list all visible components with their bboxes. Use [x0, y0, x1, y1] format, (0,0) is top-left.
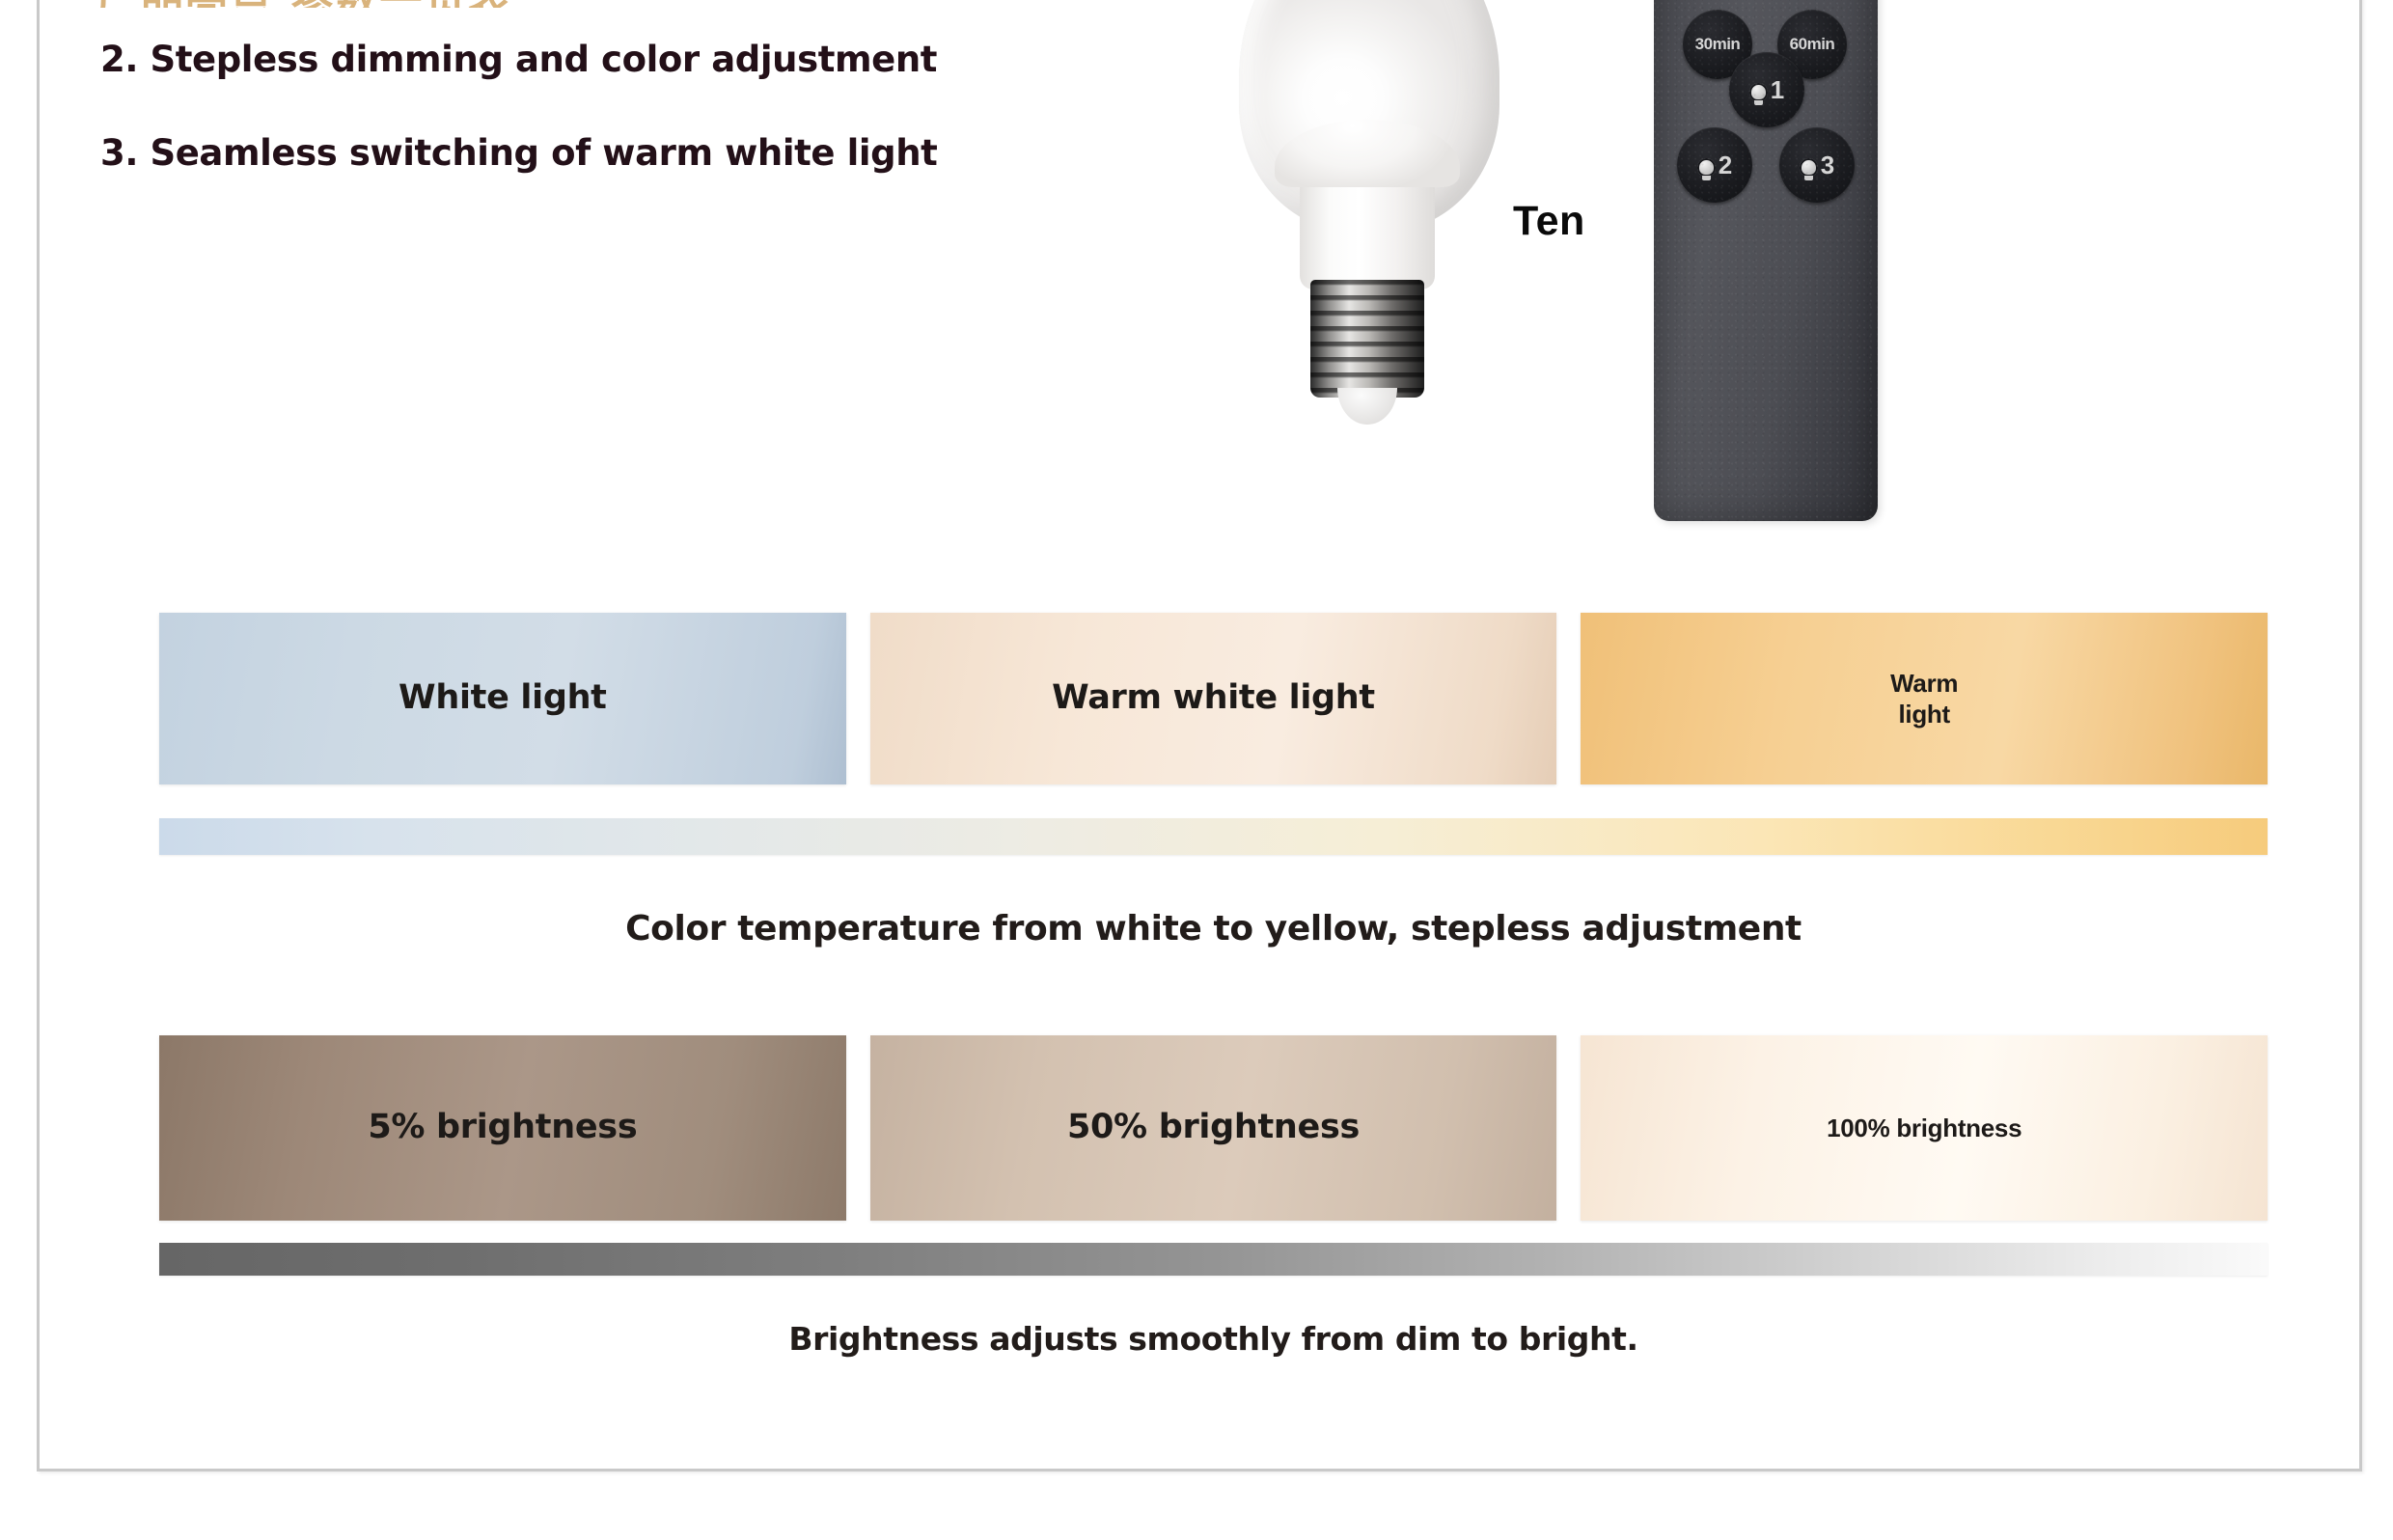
bulb-neck [1300, 164, 1435, 289]
remote-button-label: 1 [1771, 75, 1784, 105]
swatch-label: 5% brightness [368, 1107, 637, 1149]
swatch-label: White light [399, 677, 607, 720]
feature-line-3: 3. Seamless switching of warm white ligh… [100, 132, 937, 174]
brightness-caption: Brightness adjusts smoothly from dim to … [159, 1320, 2268, 1358]
remote-button-label: 30min [1695, 35, 1741, 54]
remote-button-scene-2[interactable]: 2 [1677, 127, 1752, 203]
remote-button-scene-1[interactable]: 1 [1729, 52, 1804, 127]
swatch-brightness-100: 100% brightness [1581, 1035, 2268, 1221]
remote-button-label: 3 [1821, 151, 1834, 180]
swatch-label: Warm light [1890, 668, 1958, 730]
bulb-caption: Ten [1513, 198, 1585, 245]
bulb-screw-base-icon [1310, 280, 1424, 398]
color-temperature-swatch-row: White light Warm white light Warm light [159, 613, 2268, 784]
remote-button-label: 2 [1719, 151, 1732, 180]
swatch-warm-white-light: Warm white light [870, 613, 1557, 784]
swatch-label: Warm white light [1052, 677, 1375, 720]
bulb-icon [1749, 83, 1768, 101]
color-temperature-gradient-bar [159, 818, 2268, 855]
feature-line-2: 2. Stepless dimming and color adjustment [100, 39, 937, 80]
swatch-brightness-5: 5% brightness [159, 1035, 846, 1221]
swatch-warm-light: Warm light [1581, 613, 2268, 784]
remote-button-scene-3[interactable]: 3 [1779, 127, 1855, 203]
remote-control-image: 30min 60min 1 2 3 [1654, 0, 1878, 521]
bulb-icon [1800, 158, 1818, 177]
swatch-white-light: White light [159, 613, 846, 784]
color-temperature-caption: Color temperature from white to yellow, … [159, 909, 2268, 949]
bulb-base-tip [1337, 388, 1397, 425]
cut-off-headline: 产品亮点 参数一览表 [96, 0, 772, 8]
brightness-swatch-row: 5% brightness 50% brightness 100% bright… [159, 1035, 2268, 1221]
swatch-brightness-50: 50% brightness [870, 1035, 1557, 1221]
remote-button-label: 60min [1790, 35, 1835, 54]
bulb-icon [1697, 158, 1716, 177]
led-bulb-image [1218, 0, 1507, 521]
swatch-label: 50% brightness [1067, 1107, 1360, 1149]
brightness-gradient-bar [159, 1243, 2268, 1276]
swatch-label: 100% brightness [1827, 1113, 2022, 1144]
